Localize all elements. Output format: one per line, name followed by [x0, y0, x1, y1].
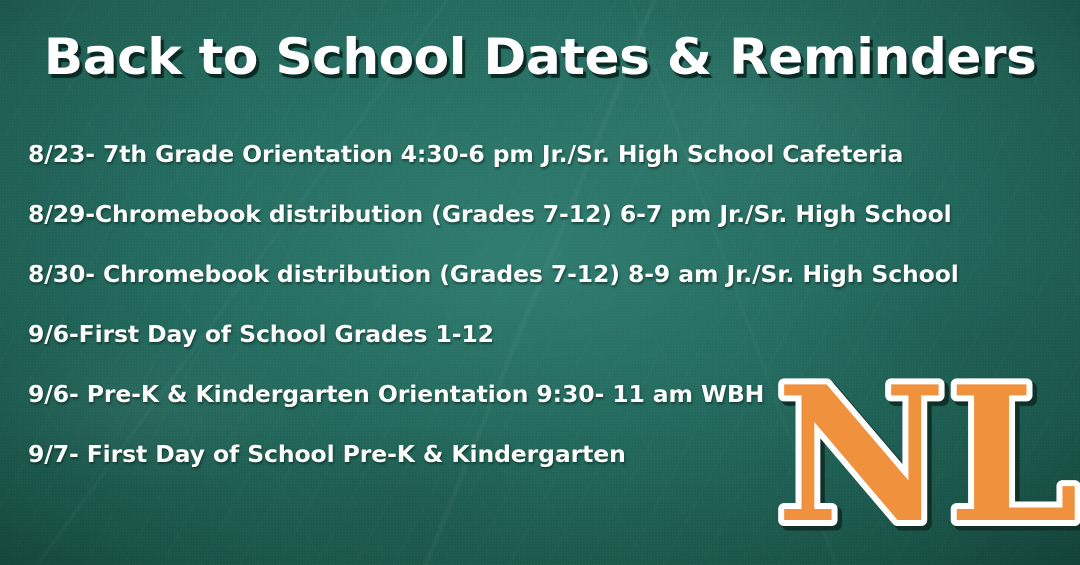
nl-school-logo: NL NL NL — [770, 358, 1075, 543]
list-item: 8/30- Chromebook distribution (Grades 7-… — [28, 244, 1028, 304]
poster-canvas: Back to School Dates & Reminders 8/23- 7… — [0, 0, 1080, 565]
logo-fill-text: NL — [776, 345, 1080, 564]
list-item: 8/23- 7th Grade Orientation 4:30-6 pm Jr… — [28, 124, 1028, 184]
page-title: Back to School Dates & Reminders — [0, 26, 1080, 88]
list-item: 8/29-Chromebook distribution (Grades 7-1… — [28, 184, 1028, 244]
